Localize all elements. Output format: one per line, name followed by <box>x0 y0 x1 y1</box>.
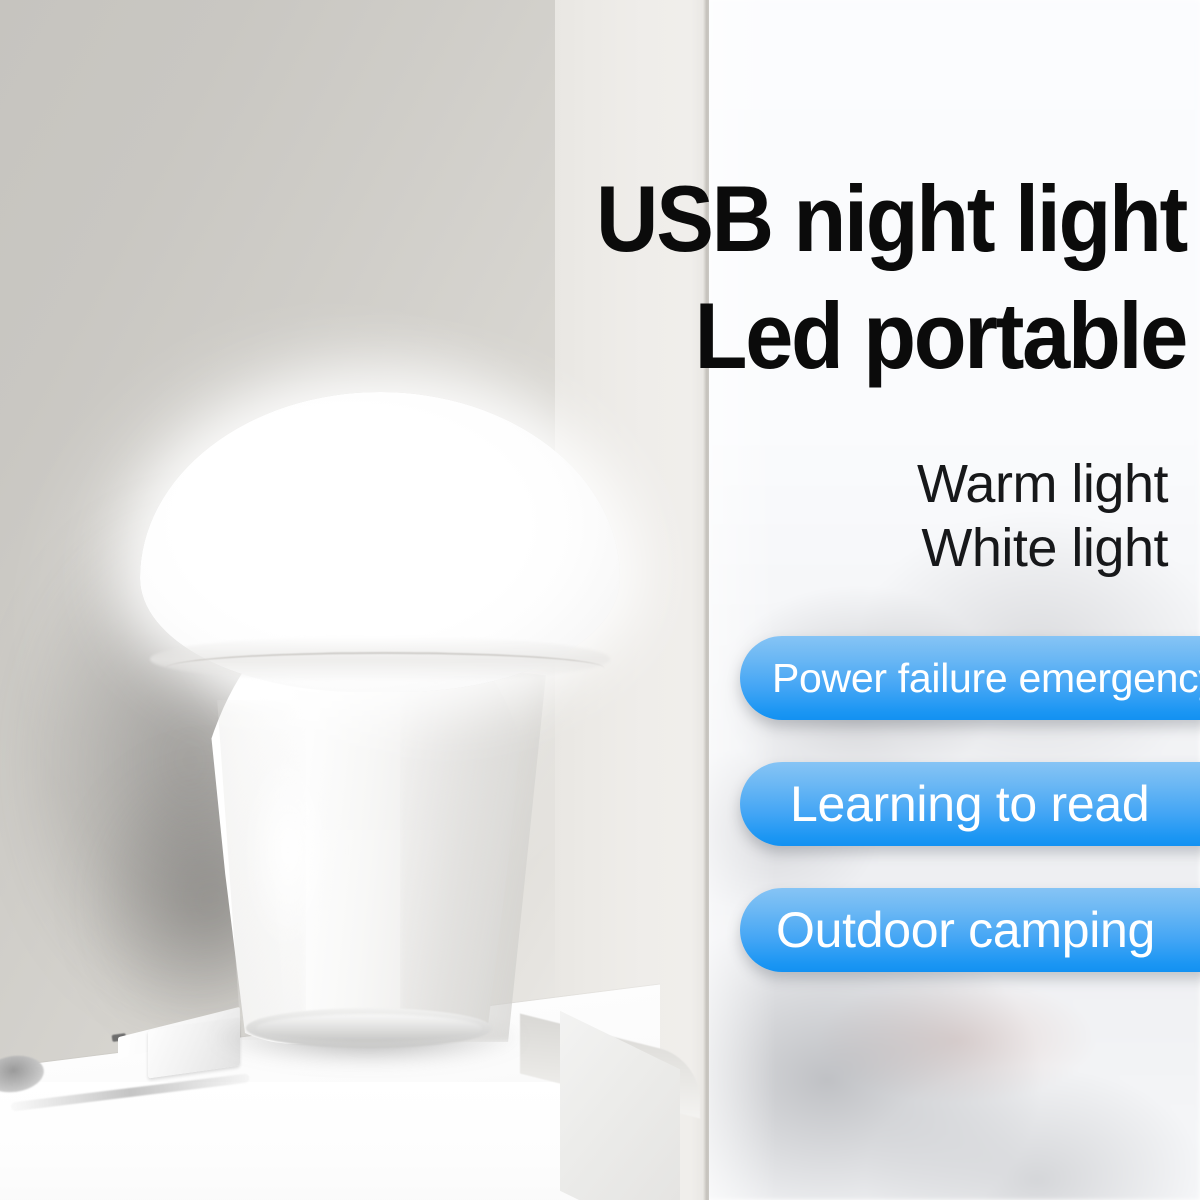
bulb-seam-line <box>166 652 604 684</box>
feature-pill-outdoor-camping[interactable]: Outdoor camping <box>740 888 1200 972</box>
headline-line-1: USB night light <box>432 160 1186 277</box>
subtitle-line-1: Warm light <box>648 452 1168 516</box>
bulb-base-ring-highlight <box>256 1014 482 1042</box>
bulb-right-shading <box>400 660 546 1042</box>
bulb-specular-highlight <box>228 700 348 1000</box>
feature-pill-label: Power failure emergency <box>740 655 1200 702</box>
feature-pill-label: Learning to read <box>740 775 1149 833</box>
headline: USB night light Led portable <box>432 160 1186 394</box>
feature-pill-label: Outdoor camping <box>740 901 1155 959</box>
subtitle: Warm light White light <box>648 452 1168 580</box>
headline-line-2: Led portable <box>432 277 1186 394</box>
feature-pill-learning-to-read[interactable]: Learning to read <box>740 762 1200 846</box>
feature-pill-list: Power failure emergency Learning to read… <box>740 636 1200 972</box>
product-banner: USB night light Led portable Warm light … <box>0 0 1200 1200</box>
subtitle-line-2: White light <box>648 516 1168 580</box>
feature-pill-power-failure-emergency[interactable]: Power failure emergency <box>740 636 1200 720</box>
